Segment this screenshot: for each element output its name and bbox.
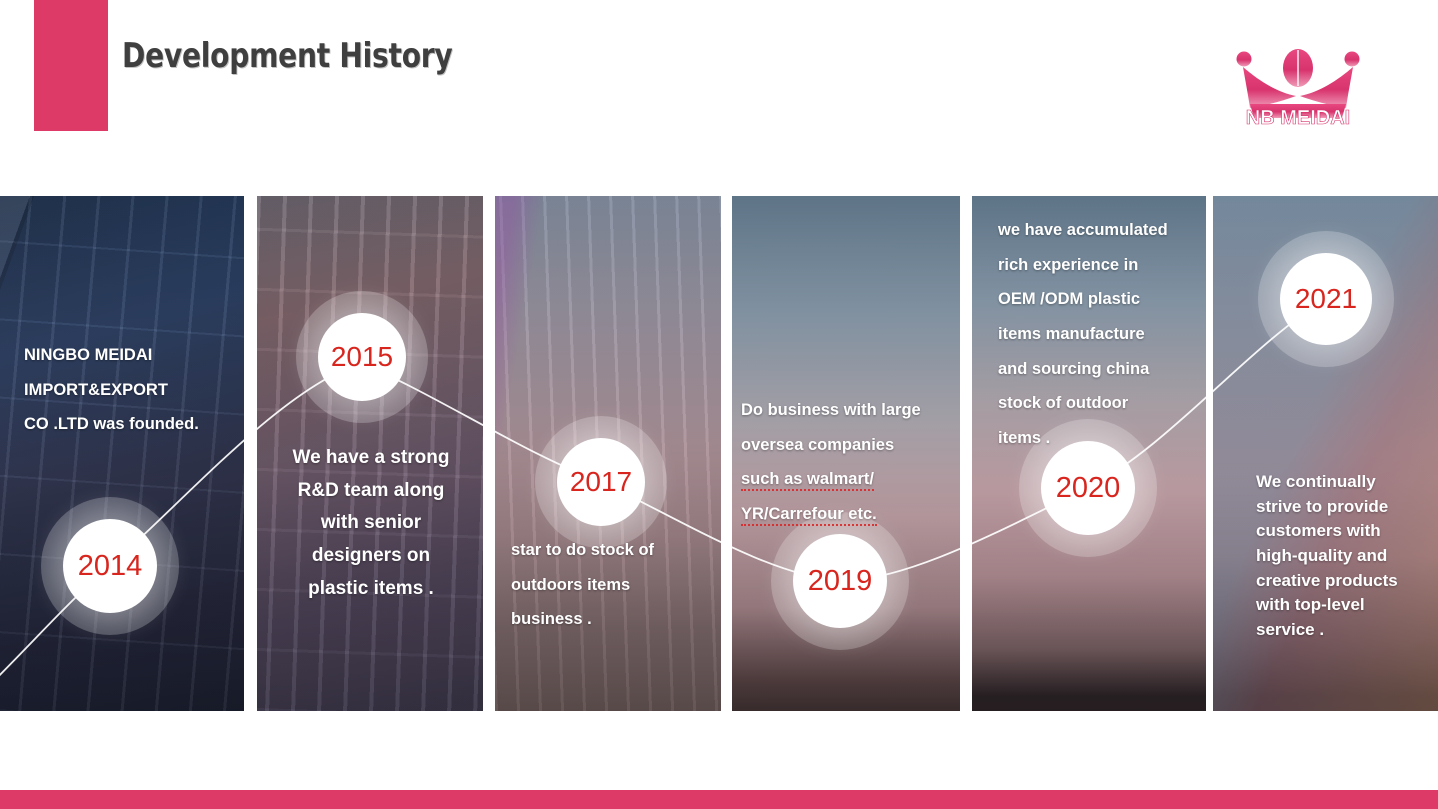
- milestone-line: Do business with large: [741, 393, 961, 428]
- milestone-line: strive to provide: [1256, 495, 1438, 520]
- year-node-2019[interactable]: 2019: [793, 534, 887, 628]
- milestone-line: outdoors items: [511, 568, 721, 603]
- crown-icon: NB MEIDAI: [1232, 44, 1364, 140]
- panel-tint: [0, 196, 244, 711]
- year-label: 2017: [570, 468, 632, 496]
- year-node-2015[interactable]: 2015: [318, 313, 406, 401]
- milestone-line: we have accumulated: [998, 213, 1213, 248]
- milestone-line: star to do stock of: [511, 533, 721, 568]
- footer-accent-bar: [0, 790, 1438, 809]
- milestone-line: stock of outdoor: [998, 386, 1213, 421]
- milestone-line: high-quality and: [1256, 544, 1438, 569]
- milestone-line: business .: [511, 602, 721, 637]
- timeline-panel-2014[interactable]: [0, 195, 245, 712]
- milestone-line: plastic items .: [272, 573, 470, 606]
- milestone-line: designers on: [272, 540, 470, 573]
- milestone-body-2019: Do business with large oversea companies…: [741, 393, 961, 532]
- milestone-line: items .: [998, 421, 1213, 456]
- milestone-line: items manufacture: [998, 317, 1213, 352]
- year-label: 2019: [808, 567, 873, 596]
- milestone-line-misspelled: such as walmart/: [741, 470, 874, 491]
- milestone-line: customers with: [1256, 519, 1438, 544]
- year-node-2014[interactable]: 2014: [63, 519, 157, 613]
- brand-logo-text: NB MEIDAI: [1246, 107, 1350, 129]
- milestone-line: CO .LTD was founded.: [24, 407, 249, 442]
- page-title: Development History: [122, 36, 452, 76]
- milestone-line: YR/Carrefour etc.: [741, 497, 961, 532]
- milestone-body-2021: We continually strive to provide custome…: [1256, 470, 1438, 642]
- year-label: 2014: [78, 552, 143, 581]
- milestone-line-misspelled: YR/Carrefour etc.: [741, 505, 877, 526]
- year-label: 2021: [1295, 285, 1357, 313]
- milestone-body-2014: NINGBO MEIDAI IMPORT&EXPORT CO .LTD was …: [24, 338, 249, 442]
- milestone-line: We have a strong: [272, 442, 470, 475]
- milestone-line: OEM /ODM plastic: [998, 282, 1213, 317]
- brand-logo: NB MEIDAI: [1232, 44, 1364, 140]
- year-label: 2020: [1056, 474, 1121, 503]
- milestone-line: IMPORT&EXPORT: [24, 373, 249, 408]
- milestone-line: with senior: [272, 507, 470, 540]
- year-node-2021[interactable]: 2021: [1280, 253, 1372, 345]
- milestone-body-2015: We have a strong R&D team along with sen…: [272, 442, 470, 605]
- milestone-line: NINGBO MEIDAI: [24, 338, 249, 373]
- slide-header: Development History NB MEIDAI: [0, 0, 1438, 190]
- milestone-body-2017: star to do stock of outdoors items busin…: [511, 533, 721, 637]
- milestone-line: R&D team along: [272, 475, 470, 508]
- milestone-line: with top-level: [1256, 593, 1438, 618]
- year-label: 2015: [331, 343, 393, 371]
- milestone-line: and sourcing china: [998, 352, 1213, 387]
- milestone-line: service .: [1256, 618, 1438, 643]
- milestone-line: rich experience in: [998, 248, 1213, 283]
- milestone-line: oversea companies: [741, 428, 961, 463]
- milestone-line: We continually: [1256, 470, 1438, 495]
- title-accent-block: [34, 0, 108, 131]
- milestone-line: such as walmart/: [741, 462, 961, 497]
- year-node-2017[interactable]: 2017: [557, 438, 645, 526]
- milestone-body-2020: we have accumulated rich experience in O…: [998, 213, 1213, 455]
- milestone-line: creative products: [1256, 569, 1438, 594]
